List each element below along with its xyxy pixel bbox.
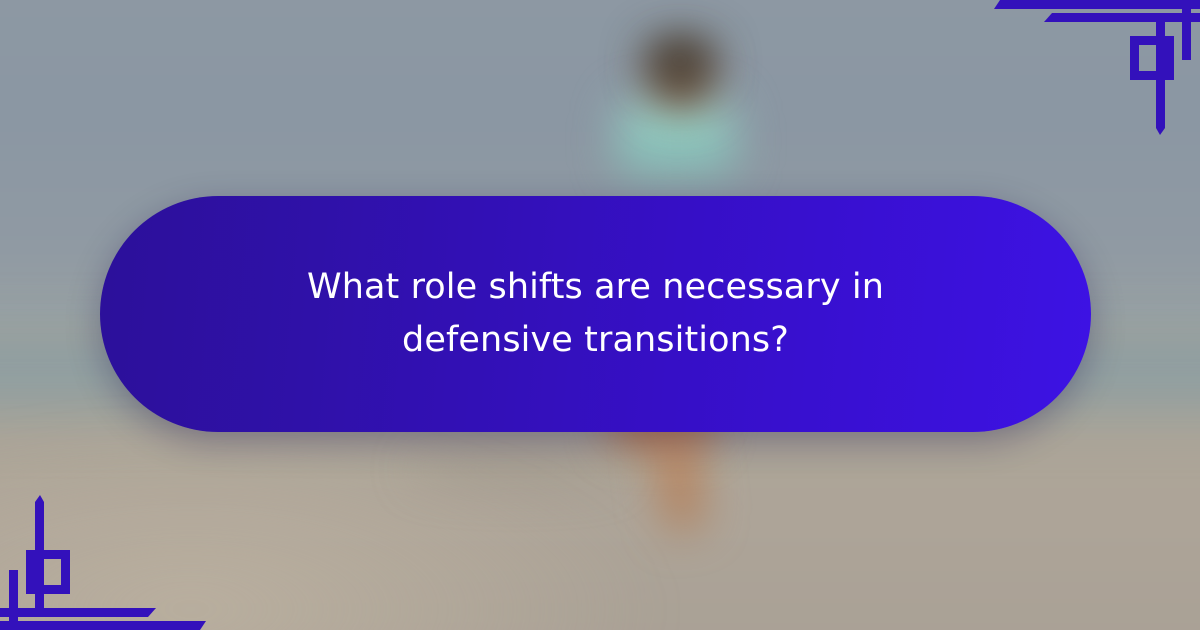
background-sand-highlight <box>0 420 666 630</box>
background-figure-hair <box>646 40 714 80</box>
question-text: What role shifts are necessary in defens… <box>216 261 975 367</box>
background-figure-shadow <box>410 456 620 482</box>
slide-canvas: What role shifts are necessary in defens… <box>0 0 1200 630</box>
question-card: What role shifts are necessary in defens… <box>100 196 1091 432</box>
